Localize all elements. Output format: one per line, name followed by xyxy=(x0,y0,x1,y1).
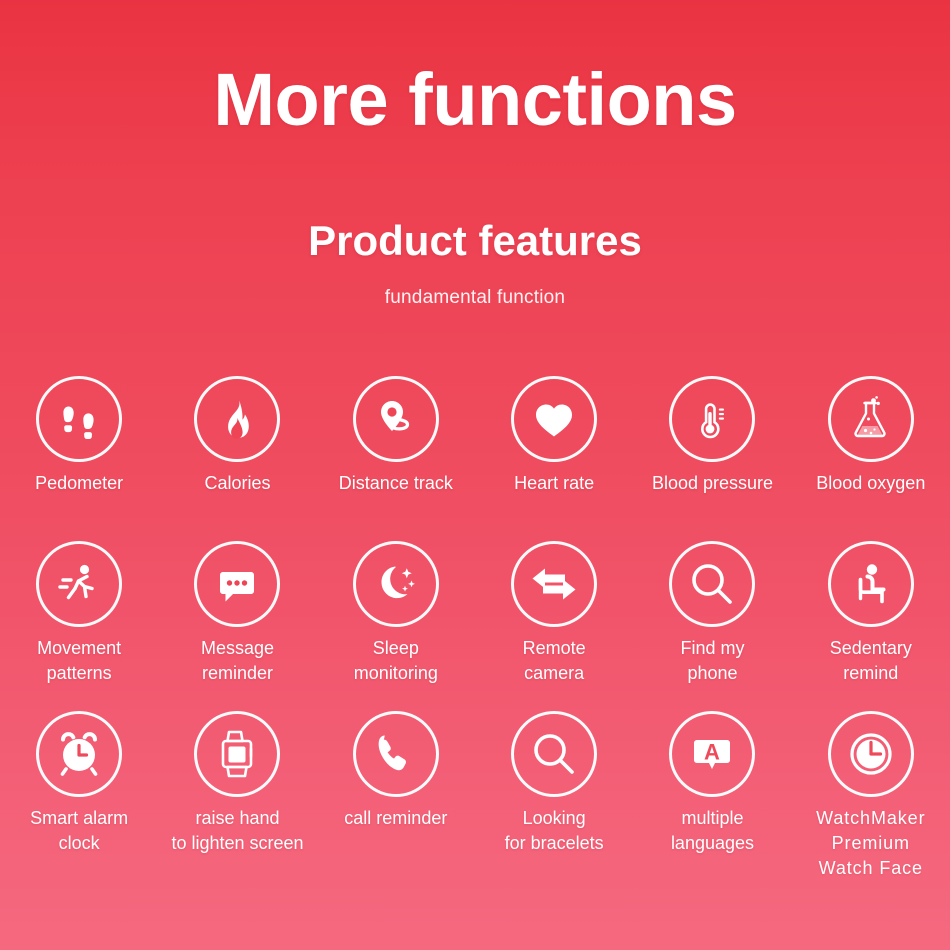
feature-item-looking-for-bracelets[interactable]: Looking for bracelets xyxy=(475,711,633,891)
thermometer-icon xyxy=(669,376,755,462)
moon-stars-icon xyxy=(353,541,439,627)
magnifier-icon xyxy=(669,541,755,627)
feature-label: Blood oxygen xyxy=(816,471,925,496)
feature-item-smart-alarm-clock[interactable]: Smart alarm clock xyxy=(0,711,158,891)
feature-item-find-my-phone[interactable]: Find my phone xyxy=(633,541,791,711)
feature-row: Pedometer Calories xyxy=(0,376,950,541)
promo-page: More functions Product features fundamen… xyxy=(0,0,950,950)
feature-label: Sedentary remind xyxy=(830,636,912,686)
feature-item-heart-rate[interactable]: Heart rate xyxy=(475,376,633,541)
feature-label: Remote camera xyxy=(523,636,586,686)
language-bubble-icon: A xyxy=(669,711,755,797)
heart-icon xyxy=(511,376,597,462)
feature-label: Distance track xyxy=(339,471,453,496)
page-title: More functions xyxy=(0,54,950,146)
feature-item-blood-pressure[interactable]: Blood pressure xyxy=(633,376,791,541)
feature-label: Pedometer xyxy=(35,471,123,496)
feature-label: Sleep monitoring xyxy=(354,636,438,686)
chat-bubble-icon xyxy=(194,541,280,627)
smartwatch-icon xyxy=(194,711,280,797)
feature-item-watchmaker[interactable]: WatchMaker Premium Watch Face xyxy=(792,711,950,891)
feature-item-distance-track[interactable]: Distance track xyxy=(317,376,475,541)
feature-label: WatchMaker Premium Watch Face xyxy=(816,806,925,881)
running-person-icon xyxy=(36,541,122,627)
feature-label: Message reminder xyxy=(201,636,274,686)
feature-grid: Pedometer Calories xyxy=(0,376,950,891)
feature-item-raise-hand[interactable]: raise hand to lighten screen xyxy=(158,711,316,891)
section-title: Product features xyxy=(0,213,950,269)
feature-label: Smart alarm clock xyxy=(30,806,128,856)
feature-label: raise hand to lighten screen xyxy=(171,806,303,856)
flame-icon xyxy=(194,376,280,462)
feature-item-message-reminder[interactable]: Message reminder xyxy=(158,541,316,711)
footprints-icon xyxy=(36,376,122,462)
alarm-clock-icon xyxy=(36,711,122,797)
feature-label: Heart rate xyxy=(514,471,594,496)
section-subtitle: fundamental function xyxy=(0,285,950,311)
feature-item-pedometer[interactable]: Pedometer xyxy=(0,376,158,541)
magnifier-icon xyxy=(511,711,597,797)
feature-item-blood-oxygen[interactable]: Blood oxygen xyxy=(792,376,950,541)
location-pin-icon xyxy=(353,376,439,462)
feature-item-call-reminder[interactable]: call reminder xyxy=(317,711,475,891)
feature-item-calories[interactable]: Calories xyxy=(158,376,316,541)
feature-label: multiple languages xyxy=(671,806,754,856)
feature-item-sleep-monitoring[interactable]: Sleep monitoring xyxy=(317,541,475,711)
feature-item-movement-patterns[interactable]: Movement patterns xyxy=(0,541,158,711)
feature-label: Blood pressure xyxy=(652,471,773,496)
feature-label: Find my phone xyxy=(680,636,744,686)
feature-row: Smart alarm clock raise hand to lighten … xyxy=(0,711,950,891)
seated-person-icon xyxy=(828,541,914,627)
feature-label: Movement patterns xyxy=(37,636,121,686)
feature-item-sedentary-remind[interactable]: Sedentary remind xyxy=(792,541,950,711)
flask-icon xyxy=(828,376,914,462)
feature-label: call reminder xyxy=(344,806,447,831)
feature-label: Looking for bracelets xyxy=(505,806,604,856)
feature-row: Movement patterns Message reminder xyxy=(0,541,950,711)
svg-text:A: A xyxy=(705,740,721,765)
clock-face-icon xyxy=(828,711,914,797)
feature-item-multiple-languages[interactable]: A multiple languages xyxy=(633,711,791,891)
feature-item-remote-camera[interactable]: Remote camera xyxy=(475,541,633,711)
phone-handset-icon xyxy=(353,711,439,797)
double-arrow-icon xyxy=(511,541,597,627)
feature-label: Calories xyxy=(204,471,270,496)
